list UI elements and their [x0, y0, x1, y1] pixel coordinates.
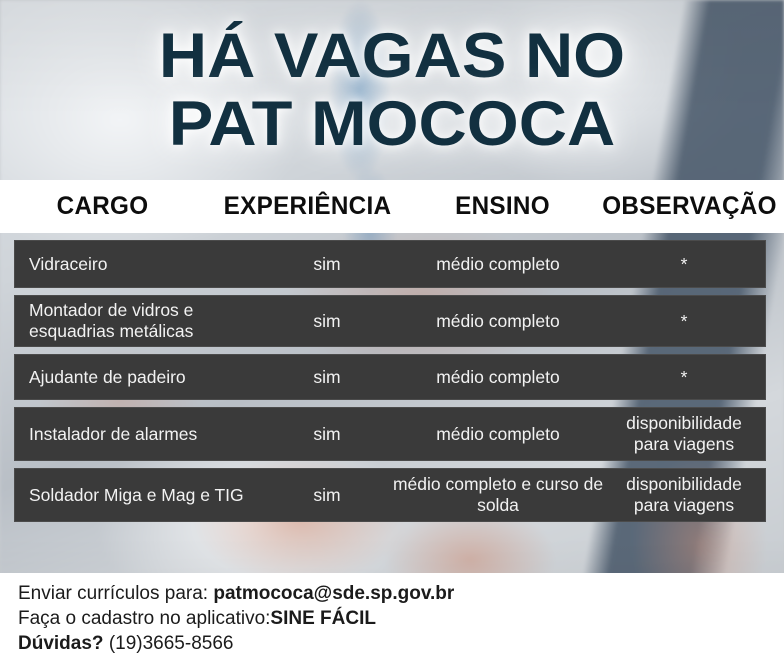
- cell-observacao: disponibilidade para viagens: [609, 413, 759, 455]
- footer-phone-label: Dúvidas?: [18, 633, 104, 654]
- cell-experiencia: sim: [267, 254, 387, 275]
- footer-contact-block: Enviar currículos para: patmococa@sde.sp…: [18, 581, 538, 654]
- cell-experiencia: sim: [267, 367, 387, 388]
- footer-phone-value: (19)3665-8566: [109, 633, 234, 654]
- footer-email-value[interactable]: patmococa@sde.sp.gov.br: [213, 583, 454, 604]
- cell-cargo: Vidraceiro: [15, 254, 267, 275]
- cell-cargo: Montador de vidros e esquadrias metálica…: [15, 300, 267, 342]
- table-header-band: CARGO EXPERIÊNCIA ENSINO OBSERVAÇÃO: [0, 180, 784, 233]
- footer-app-value: SINE FÁCIL: [270, 608, 376, 629]
- footer-app-label: Faça o cadastro no aplicativo:: [18, 608, 270, 629]
- cell-ensino: médio completo: [387, 424, 609, 445]
- column-header-observacao: OBSERVAÇÃO: [598, 192, 781, 221]
- table-row: Montador de vidros e esquadrias metálica…: [14, 295, 766, 347]
- table-row: Instalador de alarmes sim médio completo…: [14, 407, 766, 461]
- table-row: Soldador Miga e Mag e TIG sim médio comp…: [14, 468, 766, 522]
- footer-line-email: Enviar currículos para: patmococa@sde.sp…: [18, 581, 538, 606]
- column-header-experiencia: EXPERIÊNCIA: [208, 192, 407, 221]
- title-line-1: HÁ VAGAS NO: [0, 22, 784, 90]
- footer-line-phone: Dúvidas? (19)3665-8566: [18, 631, 538, 654]
- cell-observacao: *: [609, 367, 759, 388]
- cell-ensino: médio completo: [387, 254, 609, 275]
- table-row: Ajudante de padeiro sim médio completo *: [14, 354, 766, 400]
- poster-title: HÁ VAGAS NO PAT MOCOCA: [0, 22, 784, 158]
- title-line-2: PAT MOCOCA: [0, 90, 784, 158]
- column-header-ensino: ENSINO: [413, 192, 592, 221]
- cell-experiencia: sim: [267, 424, 387, 445]
- cell-cargo: Instalador de alarmes: [15, 424, 267, 445]
- footer-email-label: Enviar currículos para:: [18, 583, 208, 604]
- cell-experiencia: sim: [267, 485, 387, 506]
- cell-observacao: *: [609, 311, 759, 332]
- footer-line-app: Faça o cadastro no aplicativo:SINE FÁCIL: [18, 606, 538, 631]
- cell-observacao: *: [609, 254, 759, 275]
- cell-cargo: Soldador Miga e Mag e TIG: [15, 485, 267, 506]
- cell-ensino: médio completo e curso de solda: [387, 474, 609, 516]
- column-header-cargo: CARGO: [3, 192, 202, 221]
- footer-band: Enviar currículos para: patmococa@sde.sp…: [0, 573, 784, 654]
- table-row: Vidraceiro sim médio completo *: [14, 240, 766, 288]
- cell-ensino: médio completo: [387, 311, 609, 332]
- jobs-table: Vidraceiro sim médio completo * Montador…: [14, 240, 766, 529]
- cell-cargo: Ajudante de padeiro: [15, 367, 267, 388]
- cell-ensino: médio completo: [387, 367, 609, 388]
- cell-observacao: disponibilidade para viagens: [609, 474, 759, 516]
- cell-experiencia: sim: [267, 311, 387, 332]
